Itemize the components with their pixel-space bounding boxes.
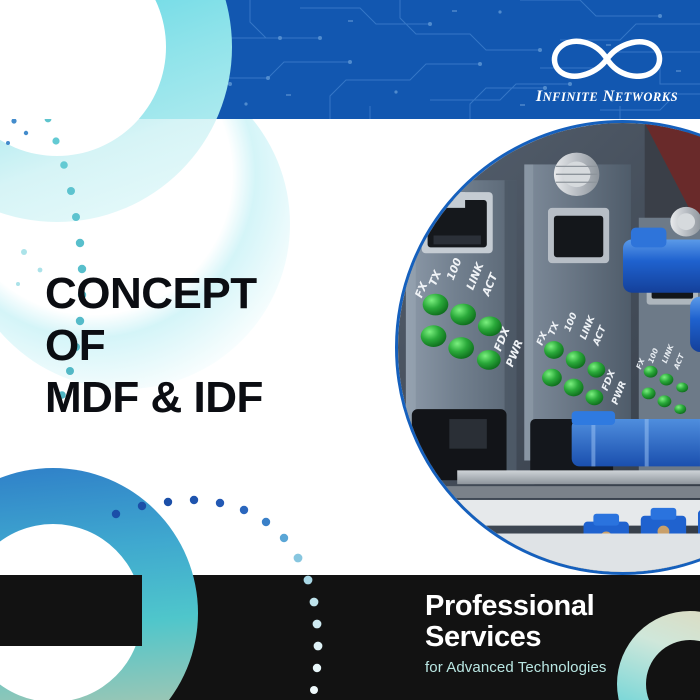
footer-ring-decoration (617, 611, 700, 700)
dot-cluster-decoration (10, 240, 130, 310)
footer-subheading: for Advanced Technologies (425, 659, 607, 676)
title-line-2: OF (45, 320, 375, 372)
dotted-arc-decoration-bottom (90, 478, 350, 700)
title-line-3: MDF & IDF (45, 372, 375, 424)
brand-name-n: N (603, 88, 615, 105)
brand-name-i: I (536, 88, 543, 105)
infinity-icon (527, 28, 687, 90)
brand-name-nfinite: NFINITE (543, 90, 599, 104)
header-band: INFINITE NETWORKS (0, 0, 700, 119)
brand-name-etworks: ETWORKS (615, 90, 678, 104)
footer-text-block: Professional Services for Advanced Techn… (425, 591, 607, 676)
hero-photo: FX TX 100 LINK ACT FDX PWR (395, 120, 700, 575)
footer-heading-line-1: Professional (425, 591, 607, 622)
brand-logo: INFINITE NETWORKS (527, 28, 687, 110)
brand-wordmark: INFINITE NETWORKS (527, 88, 687, 106)
poster-canvas: INFINITE NETWORKS (0, 0, 700, 700)
footer-heading-line-2: Services (425, 622, 607, 653)
network-equipment-illustration: FX TX 100 LINK ACT FDX PWR (398, 123, 700, 572)
teal-ring-decoration (0, 0, 232, 119)
